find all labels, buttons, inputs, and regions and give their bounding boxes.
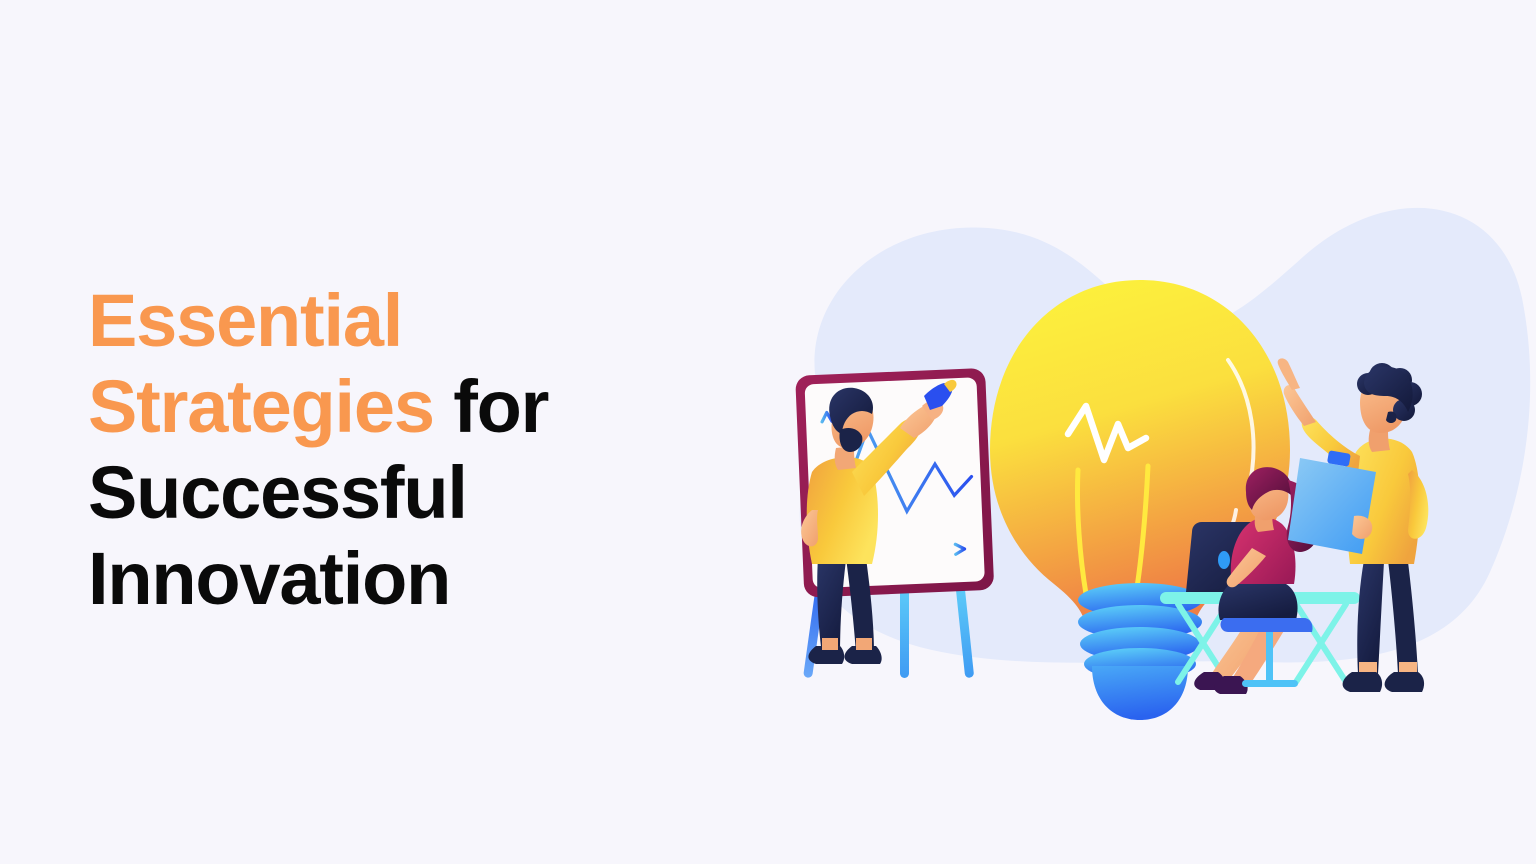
standing-man-shoe-left — [1343, 672, 1382, 692]
headline-line-4: Innovation — [88, 536, 708, 622]
presenter-ankle-front — [856, 638, 872, 650]
headline-segment-plain-2: for — [434, 365, 548, 448]
illustration-svg — [700, 180, 1536, 720]
headline-segment-accent-2: Strategies — [88, 365, 434, 448]
headline-segment-plain-4: Innovation — [88, 537, 450, 620]
innovation-illustration — [700, 180, 1536, 720]
innovation-banner: Essential Strategies for Successful Inno… — [0, 0, 1536, 864]
page-title: Essential Strategies for Successful Inno… — [88, 278, 708, 622]
clipboard-board — [1288, 458, 1376, 554]
laptop-logo-icon — [1218, 551, 1230, 569]
headline-line-3: Successful — [88, 450, 708, 536]
headline-line-1: Essential — [88, 278, 708, 364]
presenter-ankle-back — [822, 638, 838, 650]
headline-segment-plain-3: Successful — [88, 451, 467, 534]
chair-base — [1242, 680, 1298, 687]
chair-seat-pad — [1221, 618, 1313, 632]
headline-block: Essential Strategies for Successful Inno… — [88, 278, 708, 622]
headline-segment-accent-1: Essential — [88, 279, 402, 362]
headline-line-2: Strategies for — [88, 364, 708, 450]
woman-skirt — [1218, 584, 1297, 620]
bulb-tip — [1092, 666, 1188, 720]
chair-post — [1266, 632, 1273, 684]
standing-man-shoe-right — [1385, 672, 1424, 692]
